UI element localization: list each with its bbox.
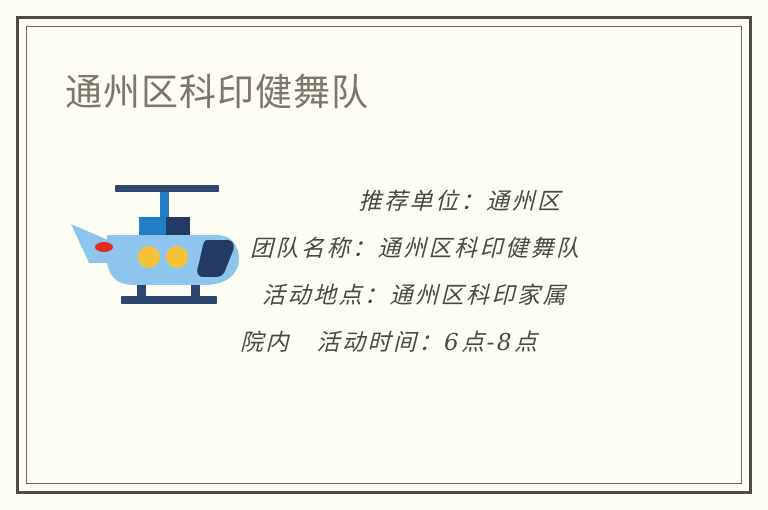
helicopter-rotor-blade bbox=[115, 185, 219, 192]
detail-line-team-name: 团队名称：通州区科印健舞队 bbox=[232, 226, 667, 273]
detail-line-time: 院内 活动时间：6点-8点 bbox=[232, 320, 667, 367]
detail-line-location: 活动地点：通州区科印家属 bbox=[232, 273, 667, 320]
helicopter-window-1 bbox=[138, 246, 160, 268]
helicopter-landing-skid bbox=[121, 296, 217, 304]
helicopter-tail-light bbox=[95, 242, 113, 252]
details-text-block: 推荐单位：通州区 团队名称：通州区科印健舞队 活动地点：通州区科印家属 院内 活… bbox=[232, 179, 667, 367]
helicopter-icon bbox=[67, 167, 247, 307]
helicopter-illustration bbox=[67, 167, 247, 307]
helicopter-engine-left bbox=[139, 217, 166, 235]
detail-line-recommending-unit: 推荐单位：通州区 bbox=[232, 179, 667, 226]
helicopter-rotor-mast bbox=[160, 192, 169, 217]
poster-card-inner-frame: 通州区科印健舞队 bbox=[26, 26, 742, 484]
helicopter-window-2 bbox=[166, 246, 188, 268]
helicopter-skid-strut-left bbox=[137, 285, 146, 297]
helicopter-skid-strut-right bbox=[191, 285, 200, 297]
helicopter-engine-right bbox=[166, 217, 190, 235]
poster-card: 通州区科印健舞队 bbox=[16, 16, 752, 494]
page-title: 通州区科印健舞队 bbox=[65, 71, 369, 115]
